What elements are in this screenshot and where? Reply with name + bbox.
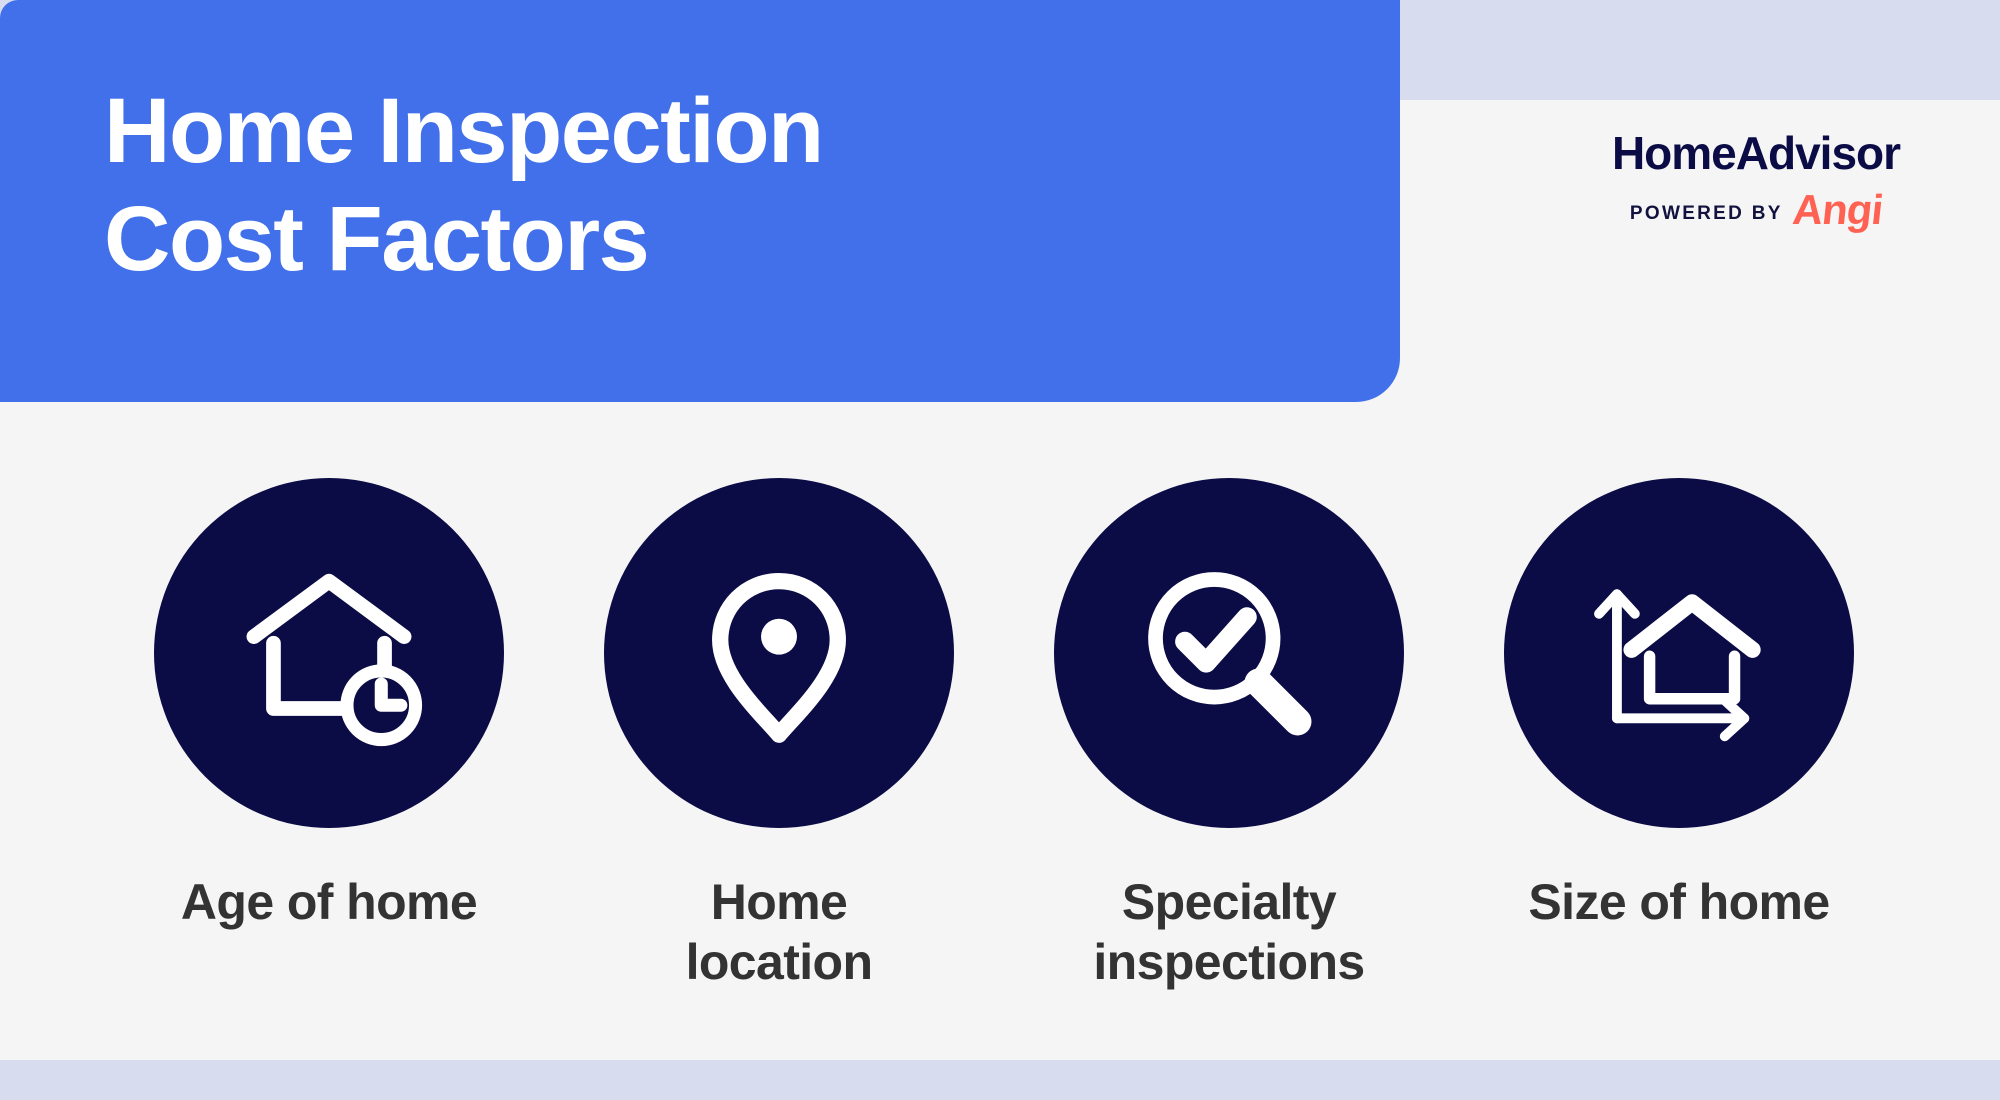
factor-home-location: Home location <box>554 478 1004 992</box>
factor-age-of-home: Age of home <box>104 478 554 992</box>
page-title: Home Inspection Cost Factors <box>104 78 1400 293</box>
factor-icon-badge <box>1054 478 1404 828</box>
infographic-canvas: Home Inspection Cost Factors HomeAdvisor… <box>0 0 2000 1100</box>
factor-size-of-home: Size of home <box>1454 478 1904 992</box>
angi-wordmark: Angi <box>1791 189 1885 231</box>
factor-icon-badge <box>604 478 954 828</box>
factor-icon-badge <box>1504 478 1854 828</box>
cost-factors-row: Age of home Home location Specialty i <box>104 478 1904 992</box>
magnifier-check-icon <box>1131 555 1327 751</box>
powered-by-label: POWERED BY <box>1630 204 1783 223</box>
house-measure-icon <box>1581 555 1777 751</box>
title-panel: Home Inspection Cost Factors <box>0 0 1400 402</box>
brand-name: HomeAdvisor <box>1576 130 1936 176</box>
factor-specialty-inspections: Specialty inspections <box>1004 478 1454 992</box>
house-clock-icon <box>231 555 427 751</box>
brand-tagline: POWERED BY Angi <box>1576 192 1936 234</box>
map-pin-icon <box>681 555 877 751</box>
factor-label: Home location <box>686 872 873 992</box>
factor-icon-badge <box>154 478 504 828</box>
brand-logo: HomeAdvisor POWERED BY Angi <box>1576 130 1936 234</box>
bottom-accent-strip <box>0 1060 2000 1100</box>
factor-label: Age of home <box>181 872 477 932</box>
factor-label: Size of home <box>1528 872 1829 932</box>
factor-label: Specialty inspections <box>1093 872 1364 992</box>
